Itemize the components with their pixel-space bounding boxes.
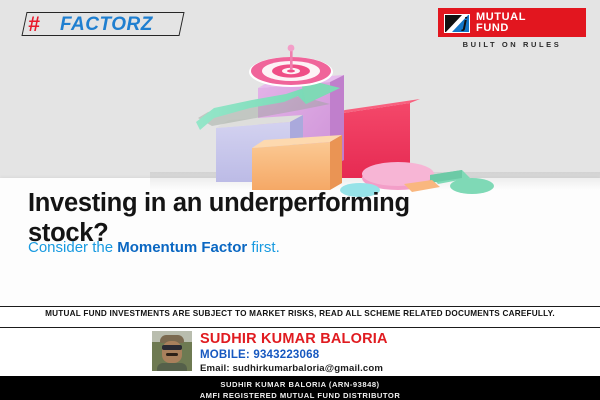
sunglasses-icon (162, 345, 182, 350)
avatar-moustache (166, 353, 178, 356)
subheadline-prefix: Consider the (28, 239, 117, 256)
footer-line-arn: SUDHIR KUMAR BALORIA (ARN-93848) (0, 379, 600, 390)
disclaimer-rule-bottom (0, 327, 600, 328)
avatar-shirt (157, 363, 187, 371)
contact-block: SUDHIR KUMAR BALORIA MOBILE: 9343223068 … (152, 331, 388, 375)
target-icon (249, 45, 333, 87)
advisor-email[interactable]: Email: sudhirkumarbaloria@gmail.com (200, 363, 388, 375)
avatar (152, 331, 192, 371)
footer-bar: SUDHIR KUMAR BALORIA (ARN-93848) AMFI RE… (0, 376, 600, 400)
footer-line-distributor: AMFI REGISTERED MUTUAL FUND DISTRIBUTOR (0, 390, 600, 400)
advisor-mobile[interactable]: MOBILE: 9343223068 (200, 348, 388, 363)
block-orange (252, 135, 342, 190)
hash-icon: # (28, 13, 38, 37)
disclaimer-rule-top (0, 306, 600, 307)
advertisement-poster: # FACTORZ j MUTUAL FUND BUILT ON RULES (0, 0, 600, 400)
factorz-wordmark: FACTORZ (60, 13, 153, 37)
nj-letter-j: j (463, 14, 467, 33)
risk-disclaimer: MUTUAL FUND INVESTMENTS ARE SUBJECT TO M… (0, 309, 600, 318)
subheadline-suffix: first. (247, 239, 280, 256)
advisor-name: SUDHIR KUMAR BALORIA (200, 331, 388, 348)
subheadline-emphasis: Momentum Factor (117, 239, 247, 256)
subheadline: Consider the Momentum Factor first. (28, 238, 408, 258)
contact-details: SUDHIR KUMAR BALORIA MOBILE: 9343223068 … (200, 331, 388, 375)
